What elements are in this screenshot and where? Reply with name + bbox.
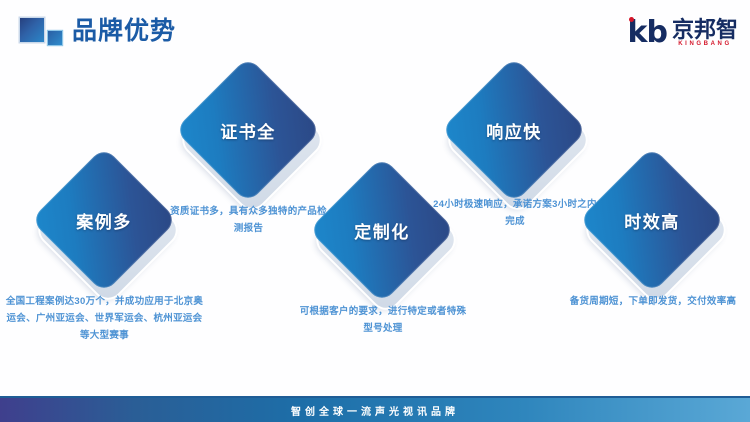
diamond-shape: 响应快: [462, 78, 566, 182]
footer-slogan: 智创全球一流声光视讯品牌: [291, 403, 459, 418]
square-decoration-small-icon: [48, 31, 62, 45]
advantage-description: 24小时极速响应，承诺方案3小时之内完成: [430, 196, 600, 230]
slide-canvas: 品牌优势 kb 京邦智 KINGBANG 案例多 全国工程案例达30万个，并成功…: [0, 0, 750, 422]
advantage-description: 全国工程案例达30万个，并成功应用于北京奥运会、广州亚运会、世界军运会、杭州亚运…: [2, 293, 207, 344]
logo-text-group: 京邦智 KINGBANG: [672, 18, 738, 48]
advantage-description: 资质证书多，具有众多独特的产品检测报告: [166, 203, 331, 237]
logo-english-name: KINGBANG: [678, 40, 731, 48]
page-title: 品牌优势: [72, 14, 176, 48]
brand-logo: kb 京邦智 KINGBANG: [628, 14, 738, 48]
logo-mark: kb: [628, 18, 667, 48]
logo-chinese-name: 京邦智: [672, 18, 738, 41]
diamond-shape: 案例多: [52, 168, 156, 272]
advantage-description: 可根据客户的要求，进行特定或者特殊型号处理: [298, 303, 468, 337]
advantage-label: 响应快: [462, 78, 566, 182]
advantage-label: 定制化: [330, 178, 434, 282]
diamond-shape: 证书全: [196, 78, 300, 182]
advantage-label: 时效高: [600, 168, 704, 272]
slide-header: 品牌优势 kb 京邦智 KINGBANG: [0, 0, 750, 62]
advantage-label: 案例多: [52, 168, 156, 272]
slide-footer: 智创全球一流声光视讯品牌: [0, 398, 750, 422]
advantage-label: 证书全: [196, 78, 300, 182]
diamond-shape: 定制化: [330, 178, 434, 282]
diamond-shape: 时效高: [600, 168, 704, 272]
red-dot-icon: [629, 17, 634, 22]
square-decoration-large-icon: [20, 18, 44, 42]
advantage-description: 备货周期短，下单即发货，交付效率高: [568, 293, 738, 310]
